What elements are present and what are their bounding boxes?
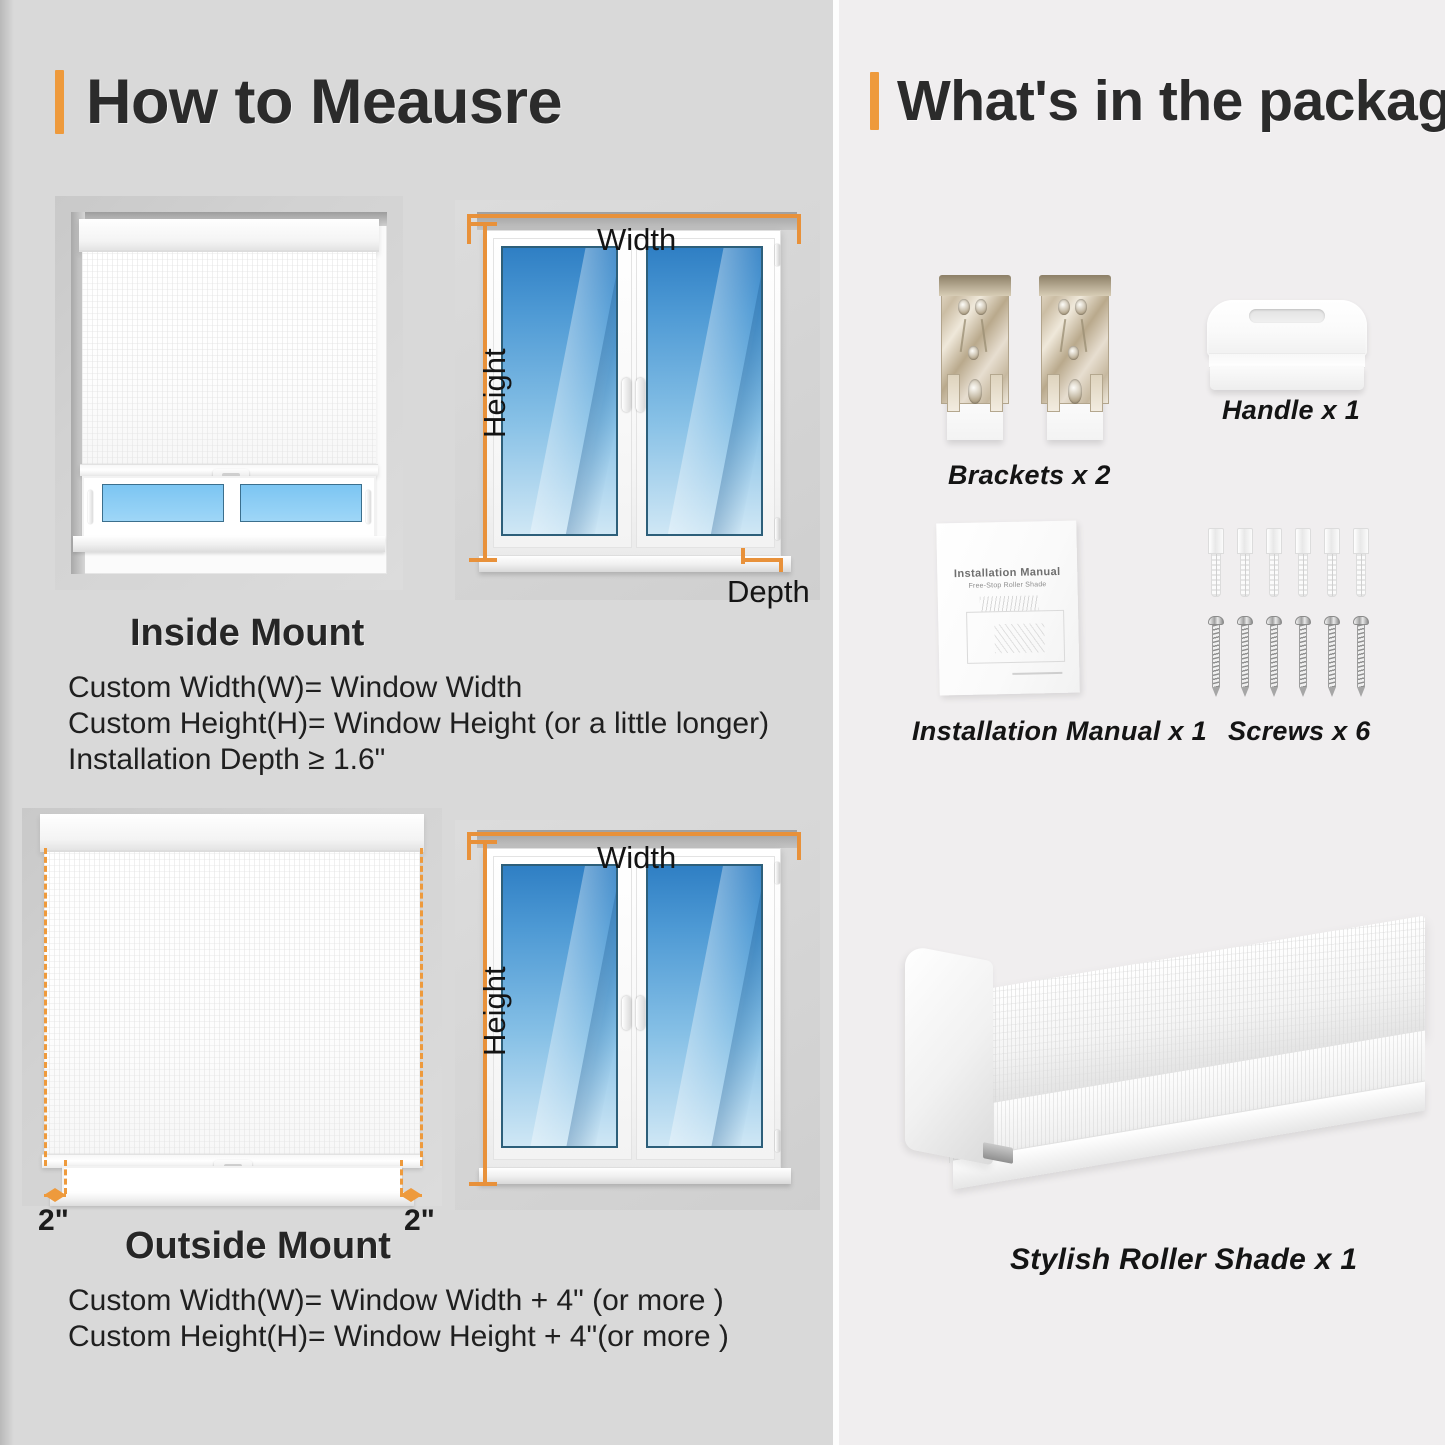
- width-measure-cap-right: [797, 832, 801, 860]
- height-measure-cap-top: [469, 840, 497, 844]
- screw-set-icon: [1208, 528, 1378, 698]
- roller-shade-end-cap: [905, 944, 993, 1165]
- bracket-slot: [1090, 374, 1103, 412]
- package-title: What's in the package: [897, 73, 1445, 130]
- bracket-hole: [1075, 299, 1087, 315]
- screws-label: Screws x 6: [1228, 716, 1371, 747]
- shade-valance: [40, 814, 424, 852]
- manual-cover-footer: [1012, 672, 1062, 675]
- width-measure-cap-left: [467, 832, 471, 860]
- bracket-hole: [1058, 299, 1070, 315]
- height-label: Height: [477, 966, 513, 1056]
- roller-shade-icon: [905, 905, 1425, 1205]
- overhang-guide-right: [420, 848, 423, 1166]
- window-hinge-bottom-icon: [775, 518, 780, 540]
- outside-mount-measure-diagram: Width Height: [455, 820, 820, 1210]
- overhang-guide-left: [44, 848, 47, 1166]
- outside-mount-title: Outside Mount: [125, 1225, 391, 1268]
- window-handle-right-icon: [636, 996, 645, 1030]
- width-measure-cap-right: [797, 214, 801, 244]
- spec-line: Custom Height(H)= Window Height + 4"(or …: [68, 1319, 788, 1355]
- spec-line: Custom Height(H)= Window Height (or a li…: [68, 706, 768, 742]
- infographic-canvas: How to Meausre What's in the package: [0, 0, 1445, 1445]
- window-latch-left-icon: [88, 490, 93, 524]
- manual-cover-figure: [966, 610, 1065, 664]
- bracket-crease: [981, 319, 988, 352]
- manual-cover-sketch: [980, 595, 1039, 612]
- arrow-head-right-icon: [55, 1188, 66, 1202]
- arrow-head-right-icon: [411, 1188, 422, 1202]
- window-handle-left-icon: [622, 996, 631, 1030]
- handle-icon: [1207, 300, 1367, 392]
- handle-grip-slot: [1249, 309, 1326, 323]
- bracket-crease: [1081, 319, 1088, 352]
- window-glass-right: [240, 484, 362, 522]
- depth-label: Depth: [727, 574, 810, 610]
- inside-mount-title: Inside Mount: [130, 612, 364, 655]
- window-handle-left-icon: [622, 378, 631, 412]
- width-label: Width: [597, 840, 676, 876]
- overhang-right-label: 2": [404, 1204, 435, 1238]
- manual-label: Installation Manual x 1: [912, 716, 1207, 747]
- bracket-crease: [1059, 319, 1066, 352]
- bracket-top-edge: [939, 275, 1010, 296]
- outside-mount-shade-illustration: 2" 2": [22, 808, 442, 1206]
- package-heading: What's in the package: [870, 72, 1445, 130]
- width-measure-line: [467, 214, 801, 218]
- height-measure-cap-bottom: [469, 1182, 497, 1186]
- manual-icon: Installation Manual Free-Stop Roller Sha…: [936, 521, 1080, 696]
- how-to-measure-heading: How to Meausre: [55, 70, 562, 134]
- brackets-label: Brackets x 2: [948, 460, 1111, 491]
- window-hinge-top-icon: [775, 862, 780, 884]
- bracket-slot: [947, 374, 960, 412]
- window-sill: [50, 1192, 414, 1206]
- window-sill: [73, 536, 385, 552]
- inside-mount-shade-illustration: [55, 196, 403, 590]
- depth-measure-cap-inner: [741, 548, 745, 564]
- window-panes-below-shade: [80, 476, 378, 538]
- overhang-left-label: 2": [38, 1204, 69, 1238]
- height-label: Height: [477, 348, 513, 438]
- window-sill: [479, 1168, 791, 1184]
- width-label: Width: [597, 222, 676, 258]
- depth-measure-line: [741, 558, 783, 562]
- bracket-slot: [1047, 374, 1060, 412]
- manual-cover-title: Installation Manual: [937, 565, 1077, 580]
- bracket-hole: [968, 346, 979, 360]
- arrow-head-left-icon: [400, 1188, 411, 1202]
- window-glass-right: [646, 864, 763, 1148]
- bracket-center-hole: [968, 379, 983, 404]
- spec-line: Custom Width(W)= Window Width + 4" (or m…: [68, 1283, 788, 1319]
- height-measure-cap-bottom: [469, 558, 497, 562]
- window-glass-left: [501, 246, 618, 536]
- window-latch-right-icon: [366, 490, 371, 524]
- width-measure-line: [467, 832, 801, 836]
- spec-line: Installation Depth ≥ 1.6": [68, 742, 768, 778]
- handle-label: Handle x 1: [1222, 395, 1360, 426]
- bracket-center-hole: [1068, 379, 1083, 404]
- bracket-hole: [958, 299, 970, 315]
- arrow-head-left-icon: [44, 1188, 55, 1202]
- inside-mount-spec-list: Custom Width(W)= Window Width Custom Hei…: [68, 670, 768, 778]
- window-handle-right-icon: [636, 378, 645, 412]
- bracket-icon: [1038, 275, 1112, 440]
- roller-shade-label: Stylish Roller Shade x 1: [1010, 1243, 1357, 1277]
- shade-fabric: [44, 852, 420, 1154]
- inside-mount-measure-diagram: Width Height Depth: [455, 200, 820, 600]
- bracket-top-edge: [1039, 275, 1110, 296]
- accent-bar-icon: [55, 70, 64, 134]
- window-glass-right: [646, 246, 763, 536]
- bracket-slot: [990, 374, 1003, 412]
- window-glass-left: [501, 864, 618, 1148]
- height-measure-cap-top: [469, 222, 497, 226]
- bracket-icon: [938, 275, 1012, 440]
- width-measure-cap-left: [467, 214, 471, 244]
- window-hinge-top-icon: [775, 244, 780, 266]
- window-hinge-bottom-icon: [775, 1130, 780, 1152]
- bracket-hole: [975, 299, 987, 315]
- window-glass-left: [102, 484, 224, 522]
- accent-bar-icon: [870, 72, 879, 130]
- window-frame: [62, 1166, 402, 1194]
- how-to-measure-title: How to Meausre: [86, 71, 562, 134]
- manual-cover-subtitle: Free-Stop Roller Shade: [937, 581, 1077, 591]
- outside-mount-spec-list: Custom Width(W)= Window Width + 4" (or m…: [68, 1283, 788, 1355]
- handle-body: [1207, 300, 1367, 357]
- spec-line: Custom Width(W)= Window Width: [68, 670, 768, 706]
- bracket-crease: [959, 319, 966, 352]
- bracket-hole: [1068, 346, 1079, 360]
- handle-foot: [1210, 366, 1364, 390]
- shade-fabric: [82, 252, 376, 464]
- shade-valance: [79, 219, 379, 252]
- depth-measure-cap-outer: [779, 558, 783, 572]
